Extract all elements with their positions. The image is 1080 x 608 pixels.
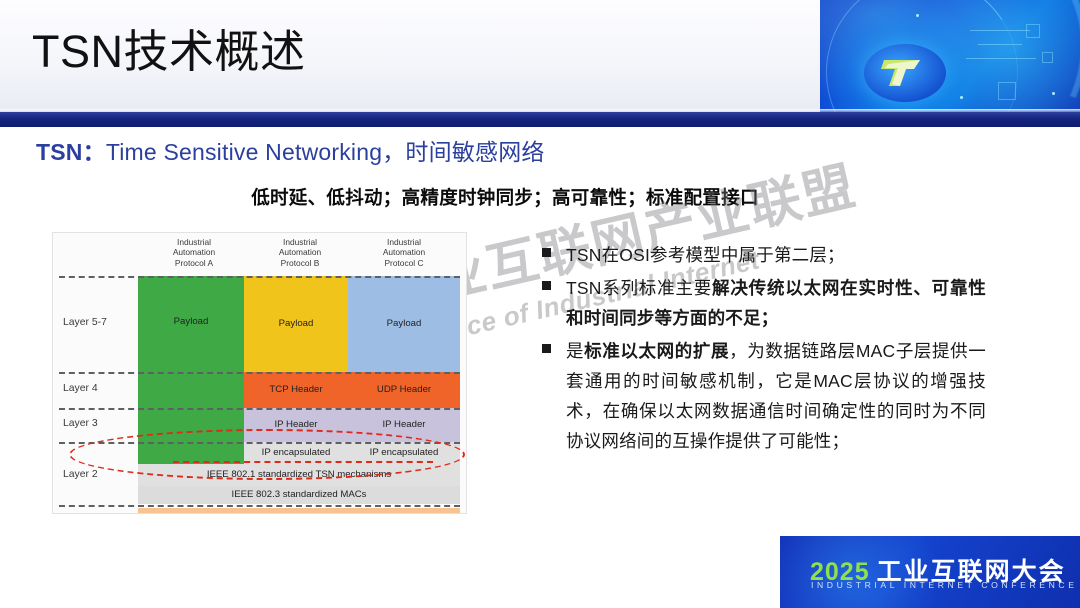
layer-label-5-7: Layer 5-7	[63, 317, 107, 328]
bullet-square-icon	[542, 344, 551, 353]
block-tcp-header: TCP Header	[244, 372, 348, 408]
bullet-text-3: 是标准以太网的扩展，为数据链路层MAC子层提供一套通用的时间敏感机制，它是MAC…	[566, 336, 986, 456]
bullet-segment: TSN系列标准主要	[566, 278, 712, 298]
column-header-protocol-b: IndustrialAutomationProtocol B	[254, 237, 346, 268]
bullet-square-icon	[542, 248, 551, 257]
section-heading-prefix: TSN：	[36, 139, 106, 165]
bullet-segment-emphasis: 标准以太网的扩展	[584, 341, 729, 361]
spark-dot-icon	[960, 96, 963, 99]
conference-footer-logo: 2025 工业互联网大会 INDUSTRIAL INTERNET CONFERE…	[780, 536, 1080, 608]
tsn-highlight-line	[173, 461, 433, 463]
column-header-protocol-a: IndustrialAutomationProtocol A	[148, 237, 240, 268]
block-payload-c: Payload	[348, 276, 460, 372]
block-standardized-phys: IEEE 802.3 standardized PHYs	[138, 508, 460, 514]
layer-label-2: Layer 2	[63, 469, 98, 480]
column-header-protocol-c: IndustrialAutomationProtocol C	[358, 237, 450, 268]
circuit-line-icon	[970, 30, 1030, 31]
header-accent-bar	[0, 112, 1080, 127]
block-label: Payload	[138, 316, 244, 328]
block-standardized-macs: IEEE 802.3 standardized MACs	[138, 486, 460, 504]
bullet-square-icon	[542, 281, 551, 290]
orbit-ring-icon	[938, 0, 1080, 126]
t-logo-icon	[880, 56, 926, 90]
section-heading-rest: Time Sensitive Networking，时间敏感网络	[106, 139, 545, 165]
circuit-node-icon	[998, 82, 1016, 100]
page-title: TSN技术概述	[32, 24, 306, 80]
footer-en-title: INDUSTRIAL INTERNET CONFERENCE	[811, 580, 1078, 590]
circuit-node-icon	[1026, 24, 1040, 38]
layer-separator	[59, 408, 460, 410]
list-item: 是标准以太网的扩展，为数据链路层MAC子层提供一套通用的时间敏感机制，它是MAC…	[536, 336, 986, 456]
circuit-node-icon	[1042, 52, 1053, 63]
list-item: TSN系列标准主要解决传统以太网在实时性、可靠性和时间同步等方面的不足；	[536, 273, 986, 333]
section-heading: TSN：Time Sensitive Networking，时间敏感网络	[36, 137, 545, 167]
layer-separator	[59, 276, 460, 278]
layer-label-3: Layer 3	[63, 418, 98, 429]
circuit-line-icon	[966, 58, 1036, 59]
spark-dot-icon	[1052, 92, 1055, 95]
block-payload-a: Payload	[138, 276, 244, 428]
bullet-segment: 是	[566, 341, 584, 361]
layer-separator	[59, 505, 460, 507]
bullet-list: TSN在OSI参考模型中属于第二层； TSN系列标准主要解决传统以太网在实时性、…	[536, 240, 986, 459]
block-udp-header: UDP Header	[348, 372, 460, 408]
block-payload-b: Payload	[244, 276, 348, 372]
circuit-line-icon	[978, 44, 1022, 45]
osi-layer-diagram: IndustrialAutomationProtocol A Industria…	[52, 232, 467, 514]
bullet-text-2: TSN系列标准主要解决传统以太网在实时性、可靠性和时间同步等方面的不足；	[566, 273, 986, 333]
spark-dot-icon	[916, 14, 919, 17]
layer-label-4: Layer 4	[63, 383, 98, 394]
layer-separator	[59, 372, 460, 374]
slide-canvas: TSN技术概述 TSN：Time Sensitive Networking，时间…	[0, 0, 1080, 608]
tsn-highlight-ellipse	[69, 429, 465, 480]
tech-decoration-graphic	[820, 0, 1080, 126]
subtitle-text: 低时延、低抖动；高精度时钟同步；高可靠性；标准配置接口	[0, 185, 1010, 211]
bullet-text-1: TSN在OSI参考模型中属于第二层；	[566, 240, 986, 270]
bullet-segment: TSN在OSI参考模型中属于第二层；	[566, 245, 845, 265]
list-item: TSN在OSI参考模型中属于第二层；	[536, 240, 986, 270]
